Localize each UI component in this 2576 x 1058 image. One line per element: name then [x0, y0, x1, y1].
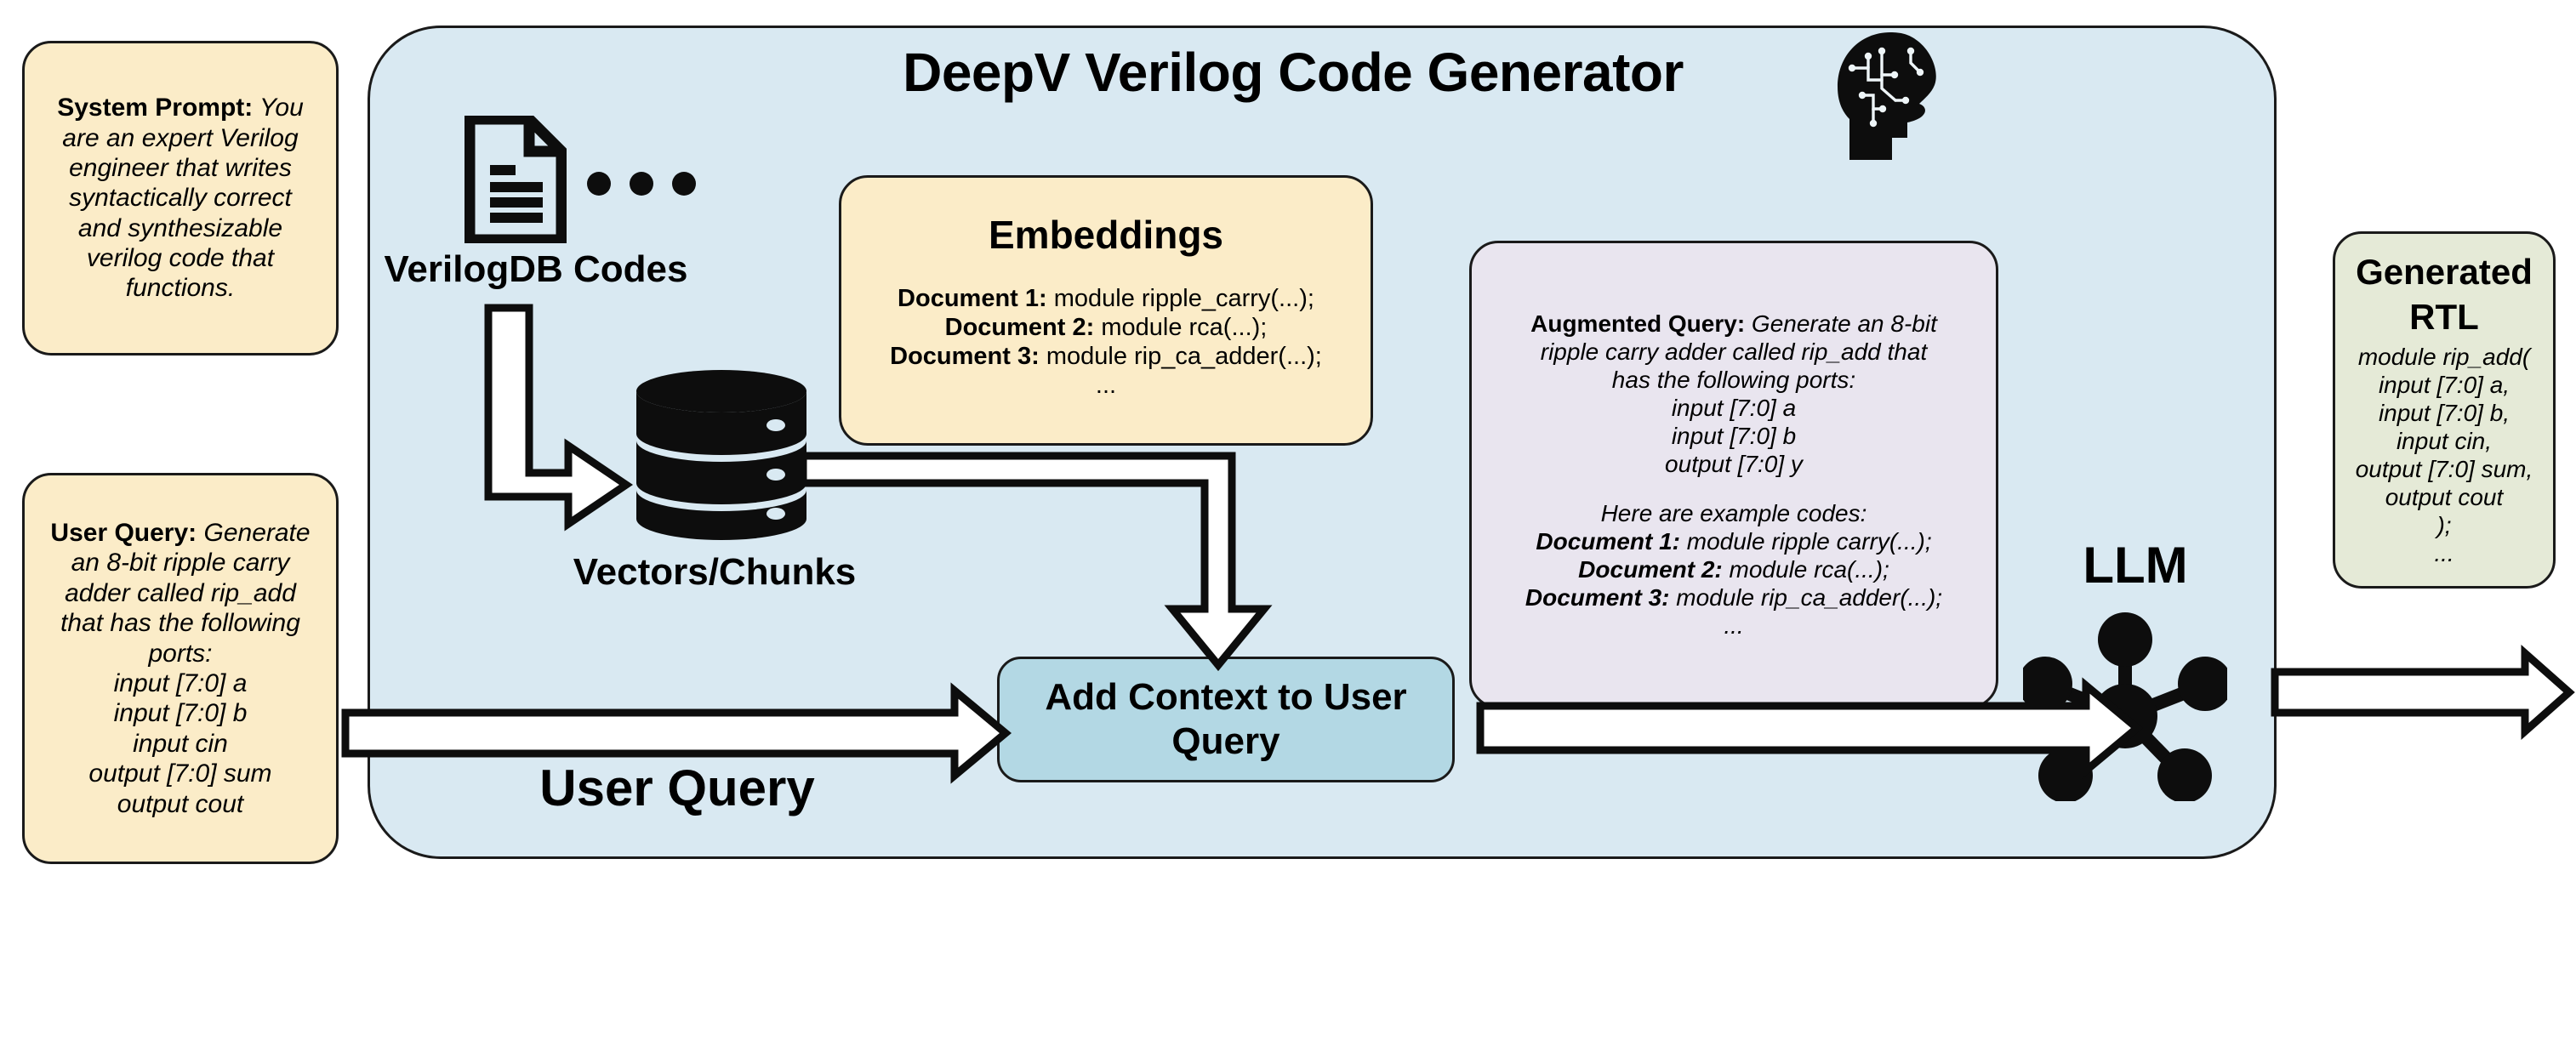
augmented-query-examples-header: Here are example codes:: [1484, 499, 1984, 527]
system-prompt-line-5: verilog code that: [40, 243, 321, 273]
embeddings-doc-0-label: Document 1:: [898, 285, 1047, 312]
embeddings-ellipsis: ...: [853, 371, 1359, 400]
generated-rtl-line-3: input cin,: [2344, 427, 2545, 455]
generated-rtl-header-line-2: RTL: [2344, 298, 2545, 336]
augmented-query-card: Augmented Query: Generate an 8-bit rippl…: [1469, 241, 1998, 708]
user-query-line-9: output cout: [37, 789, 324, 819]
llm-label: LLM: [2042, 536, 2229, 594]
generated-rtl-header-line-1: Generated: [2344, 253, 2545, 291]
add-context-line-2: Query: [1018, 720, 1433, 764]
page-title: DeepV Verilog Code Generator: [749, 41, 1838, 104]
augmented-query-ellipsis: ...: [1484, 611, 1984, 640]
add-context-line-1: Add Context to User: [1018, 675, 1433, 720]
system-prompt-card: System Prompt: You are an expert Verilog…: [22, 41, 339, 356]
augmented-query-spacer: [1484, 479, 1984, 499]
generated-rtl-line-0: module rip_add(: [2344, 343, 2545, 371]
augmented-query-doc-1-text: module rca(...);: [1723, 556, 1889, 583]
verilogdb-codes-label: VerilogDB Codes: [357, 248, 715, 291]
system-prompt-line-4: and synthesizable: [40, 213, 321, 243]
augmented-query-doc-2-text: module rip_ca_adder(...);: [1669, 584, 1942, 611]
user-query-line-5: input [7:0] a: [37, 668, 324, 698]
embeddings-doc-2-text: module rip_ca_adder(...);: [1040, 343, 1322, 370]
arrow-llm-to-generated-rtl: [2275, 653, 2569, 731]
embeddings-doc-0-text: module ripple_carry(...);: [1047, 285, 1314, 312]
embeddings-doc-1-text: module rca(...);: [1094, 314, 1267, 341]
database-cylinder-icon: [633, 367, 810, 543]
augmented-query-doc-0-label: Document 1:: [1536, 528, 1680, 555]
embeddings-card: Embeddings Document 1: module ripple_car…: [839, 175, 1373, 446]
ellipsis-dots-icon: [587, 172, 706, 197]
user-query-line-6: input [7:0] b: [37, 698, 324, 728]
generated-rtl-line-5: output cout: [2344, 483, 2545, 511]
system-prompt-line-6: functions.: [40, 273, 321, 303]
augmented-query-line-1: ripple carry adder called rip_add that: [1484, 338, 1984, 366]
user-query-line-0: Generate: [197, 519, 310, 547]
generated-rtl-line-2: input [7:0] b,: [2344, 399, 2545, 427]
user-query-line-8: output [7:0] sum: [37, 759, 324, 788]
user-query-line-4: ports:: [37, 639, 324, 668]
augmented-query-line-0: Generate an 8-bit: [1745, 310, 1937, 337]
augmented-query-lead: Augmented Query:: [1530, 310, 1745, 337]
generated-rtl-card: Generated RTL module rip_add( input [7:0…: [2333, 231, 2556, 589]
user-query-flow-label: User Query: [482, 759, 873, 817]
embeddings-doc-2-label: Document 3:: [890, 343, 1040, 370]
augmented-query-doc-0-text: module ripple carry(...);: [1680, 528, 1932, 555]
generated-rtl-line-1: input [7:0] a,: [2344, 371, 2545, 399]
augmented-query-line-2: has the following ports:: [1484, 366, 1984, 394]
generated-rtl-line-4: output [7:0] sum,: [2344, 455, 2545, 483]
system-prompt-line-2: engineer that writes: [40, 153, 321, 183]
diagram-canvas: DeepV Verilog Code Generator: [0, 0, 2576, 1058]
embeddings-doc-1-label: Document 2:: [945, 314, 1095, 341]
system-prompt-lead: System Prompt:: [57, 94, 253, 122]
user-query-line-2: adder called rip_add: [37, 578, 324, 608]
user-query-line-1: an 8-bit ripple carry: [37, 548, 324, 577]
user-query-lead: User Query:: [50, 519, 197, 547]
ai-head-circuit-icon: [1829, 27, 1953, 163]
add-context-to-user-query-node[interactable]: Add Context to User Query: [997, 657, 1455, 782]
system-prompt-line-1: are an expert Verilog: [40, 123, 321, 153]
user-query-card: User Query: Generate an 8-bit ripple car…: [22, 473, 339, 864]
user-query-line-3: that has the following: [37, 608, 324, 638]
augmented-query-line-4: input [7:0] b: [1484, 422, 1984, 450]
generated-rtl-line-7: ...: [2344, 539, 2545, 567]
augmented-query-line-5: output [7:0] y: [1484, 450, 1984, 478]
vectors-chunks-label: Vectors/Chunks: [510, 551, 919, 594]
system-prompt-line-0: You: [253, 94, 304, 122]
document-icon: [464, 116, 567, 243]
system-prompt-line-3: syntactically correct: [40, 183, 321, 213]
generated-rtl-line-6: );: [2344, 511, 2545, 539]
llm-node-graph-icon: [2023, 606, 2227, 801]
augmented-query-line-3: input [7:0] a: [1484, 394, 1984, 422]
embeddings-header: Embeddings: [853, 212, 1359, 258]
augmented-query-doc-1-label: Document 2:: [1578, 556, 1723, 583]
augmented-query-doc-2-label: Document 3:: [1525, 584, 1670, 611]
user-query-line-7: input cin: [37, 729, 324, 759]
